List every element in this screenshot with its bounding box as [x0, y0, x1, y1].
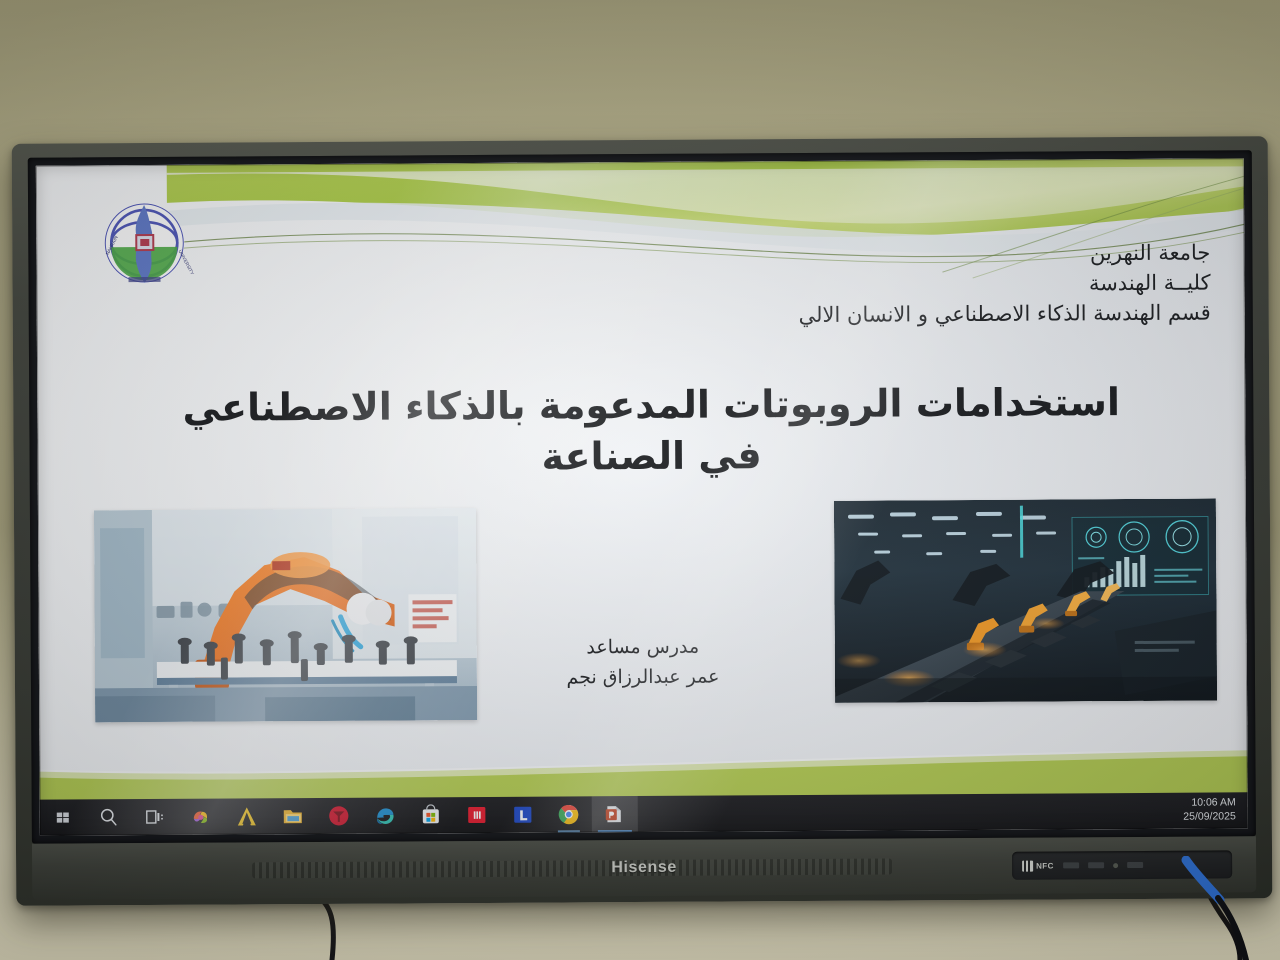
folder-icon — [282, 805, 304, 827]
windows-start-icon — [52, 806, 74, 828]
nfc-badge: NFC — [1022, 860, 1054, 871]
microsoft-store-icon — [420, 804, 442, 826]
org-line-university: جامعة النهرين — [798, 239, 1210, 271]
hdmi-port[interactable] — [1127, 862, 1143, 868]
windows-taskbar[interactable]: 10:06 AM 25/09/2025 — [40, 792, 1248, 835]
taskbar-item-file-explorer[interactable] — [270, 798, 316, 834]
nfc-label: NFC — [1036, 861, 1054, 870]
copilot-icon — [190, 806, 212, 828]
nfc-icon — [1022, 860, 1033, 871]
taskbar-item-acrobat[interactable] — [224, 798, 270, 834]
taskbar-item-l-app[interactable] — [500, 797, 546, 833]
taskbar-item-powerpoint[interactable] — [592, 796, 638, 832]
clock-date: 25/09/2025 — [1183, 810, 1236, 824]
presenter-block: مدرس مساعد عمر عبدالرزاق نجم — [39, 628, 1247, 696]
bottom-bezel: Hisense NFC — [32, 836, 1256, 899]
taskbar-item-start[interactable] — [40, 799, 86, 835]
red-square-app-icon — [466, 804, 488, 826]
speaker-grille — [252, 858, 892, 878]
power-led — [1113, 863, 1118, 868]
red-circle-app-icon — [328, 805, 350, 827]
chrome-icon — [558, 803, 580, 825]
port-panel[interactable]: NFC — [1012, 850, 1232, 879]
interactive-display: NAHRAIN UNIVERSITY جامعة النهرين كليــة … — [12, 136, 1273, 906]
taskbar-clock[interactable]: 10:06 AM 25/09/2025 — [1183, 792, 1240, 828]
taskbar-item-task-view[interactable] — [132, 799, 178, 835]
taskbar-item-search[interactable] — [86, 799, 132, 835]
svg-text:UNIVERSITY: UNIVERSITY — [177, 249, 194, 276]
taskbar-item-red-app[interactable] — [316, 798, 362, 834]
usb-port-1[interactable] — [1063, 862, 1079, 868]
screen[interactable]: NAHRAIN UNIVERSITY جامعة النهرين كليــة … — [36, 158, 1248, 835]
room-scene: NAHRAIN UNIVERSITY جامعة النهرين كليــة … — [0, 0, 1280, 960]
org-line-department: قسم الهندسة الذكاء الاصطناعي و الانسان ا… — [799, 298, 1211, 330]
university-logo: NAHRAIN UNIVERSITY — [94, 191, 195, 292]
powerpoint-slide[interactable]: NAHRAIN UNIVERSITY جامعة النهرين كليــة … — [36, 158, 1248, 835]
slide-title: استخدامات الروبوتات المدعومة بالذكاء الا… — [177, 377, 1126, 485]
clock-time: 10:06 AM — [1191, 797, 1235, 811]
edge-icon — [374, 805, 396, 827]
letter-l-app-icon — [512, 804, 534, 826]
taskbar-item-edge[interactable] — [362, 797, 408, 833]
taskbar-item-red-iii-app[interactable] — [454, 797, 500, 833]
usb-port-2[interactable] — [1088, 862, 1104, 868]
task-view-icon — [144, 806, 166, 828]
taskbar-item-chrome[interactable] — [546, 796, 592, 832]
taskbar-items[interactable] — [40, 796, 638, 836]
taskbar-item-copilot[interactable] — [178, 799, 224, 835]
powerpoint-icon — [604, 803, 626, 825]
search-icon — [98, 806, 120, 828]
organization-header: جامعة النهرين كليــة الهندسة قسم الهندسة… — [798, 239, 1211, 331]
org-line-college: كليــة الهندسة — [798, 268, 1210, 300]
letter-a-app-icon — [236, 805, 258, 827]
device-brand-label: Hisense — [611, 859, 677, 877]
wall-shadow — [0, 0, 1280, 150]
taskbar-item-store[interactable] — [408, 797, 454, 833]
